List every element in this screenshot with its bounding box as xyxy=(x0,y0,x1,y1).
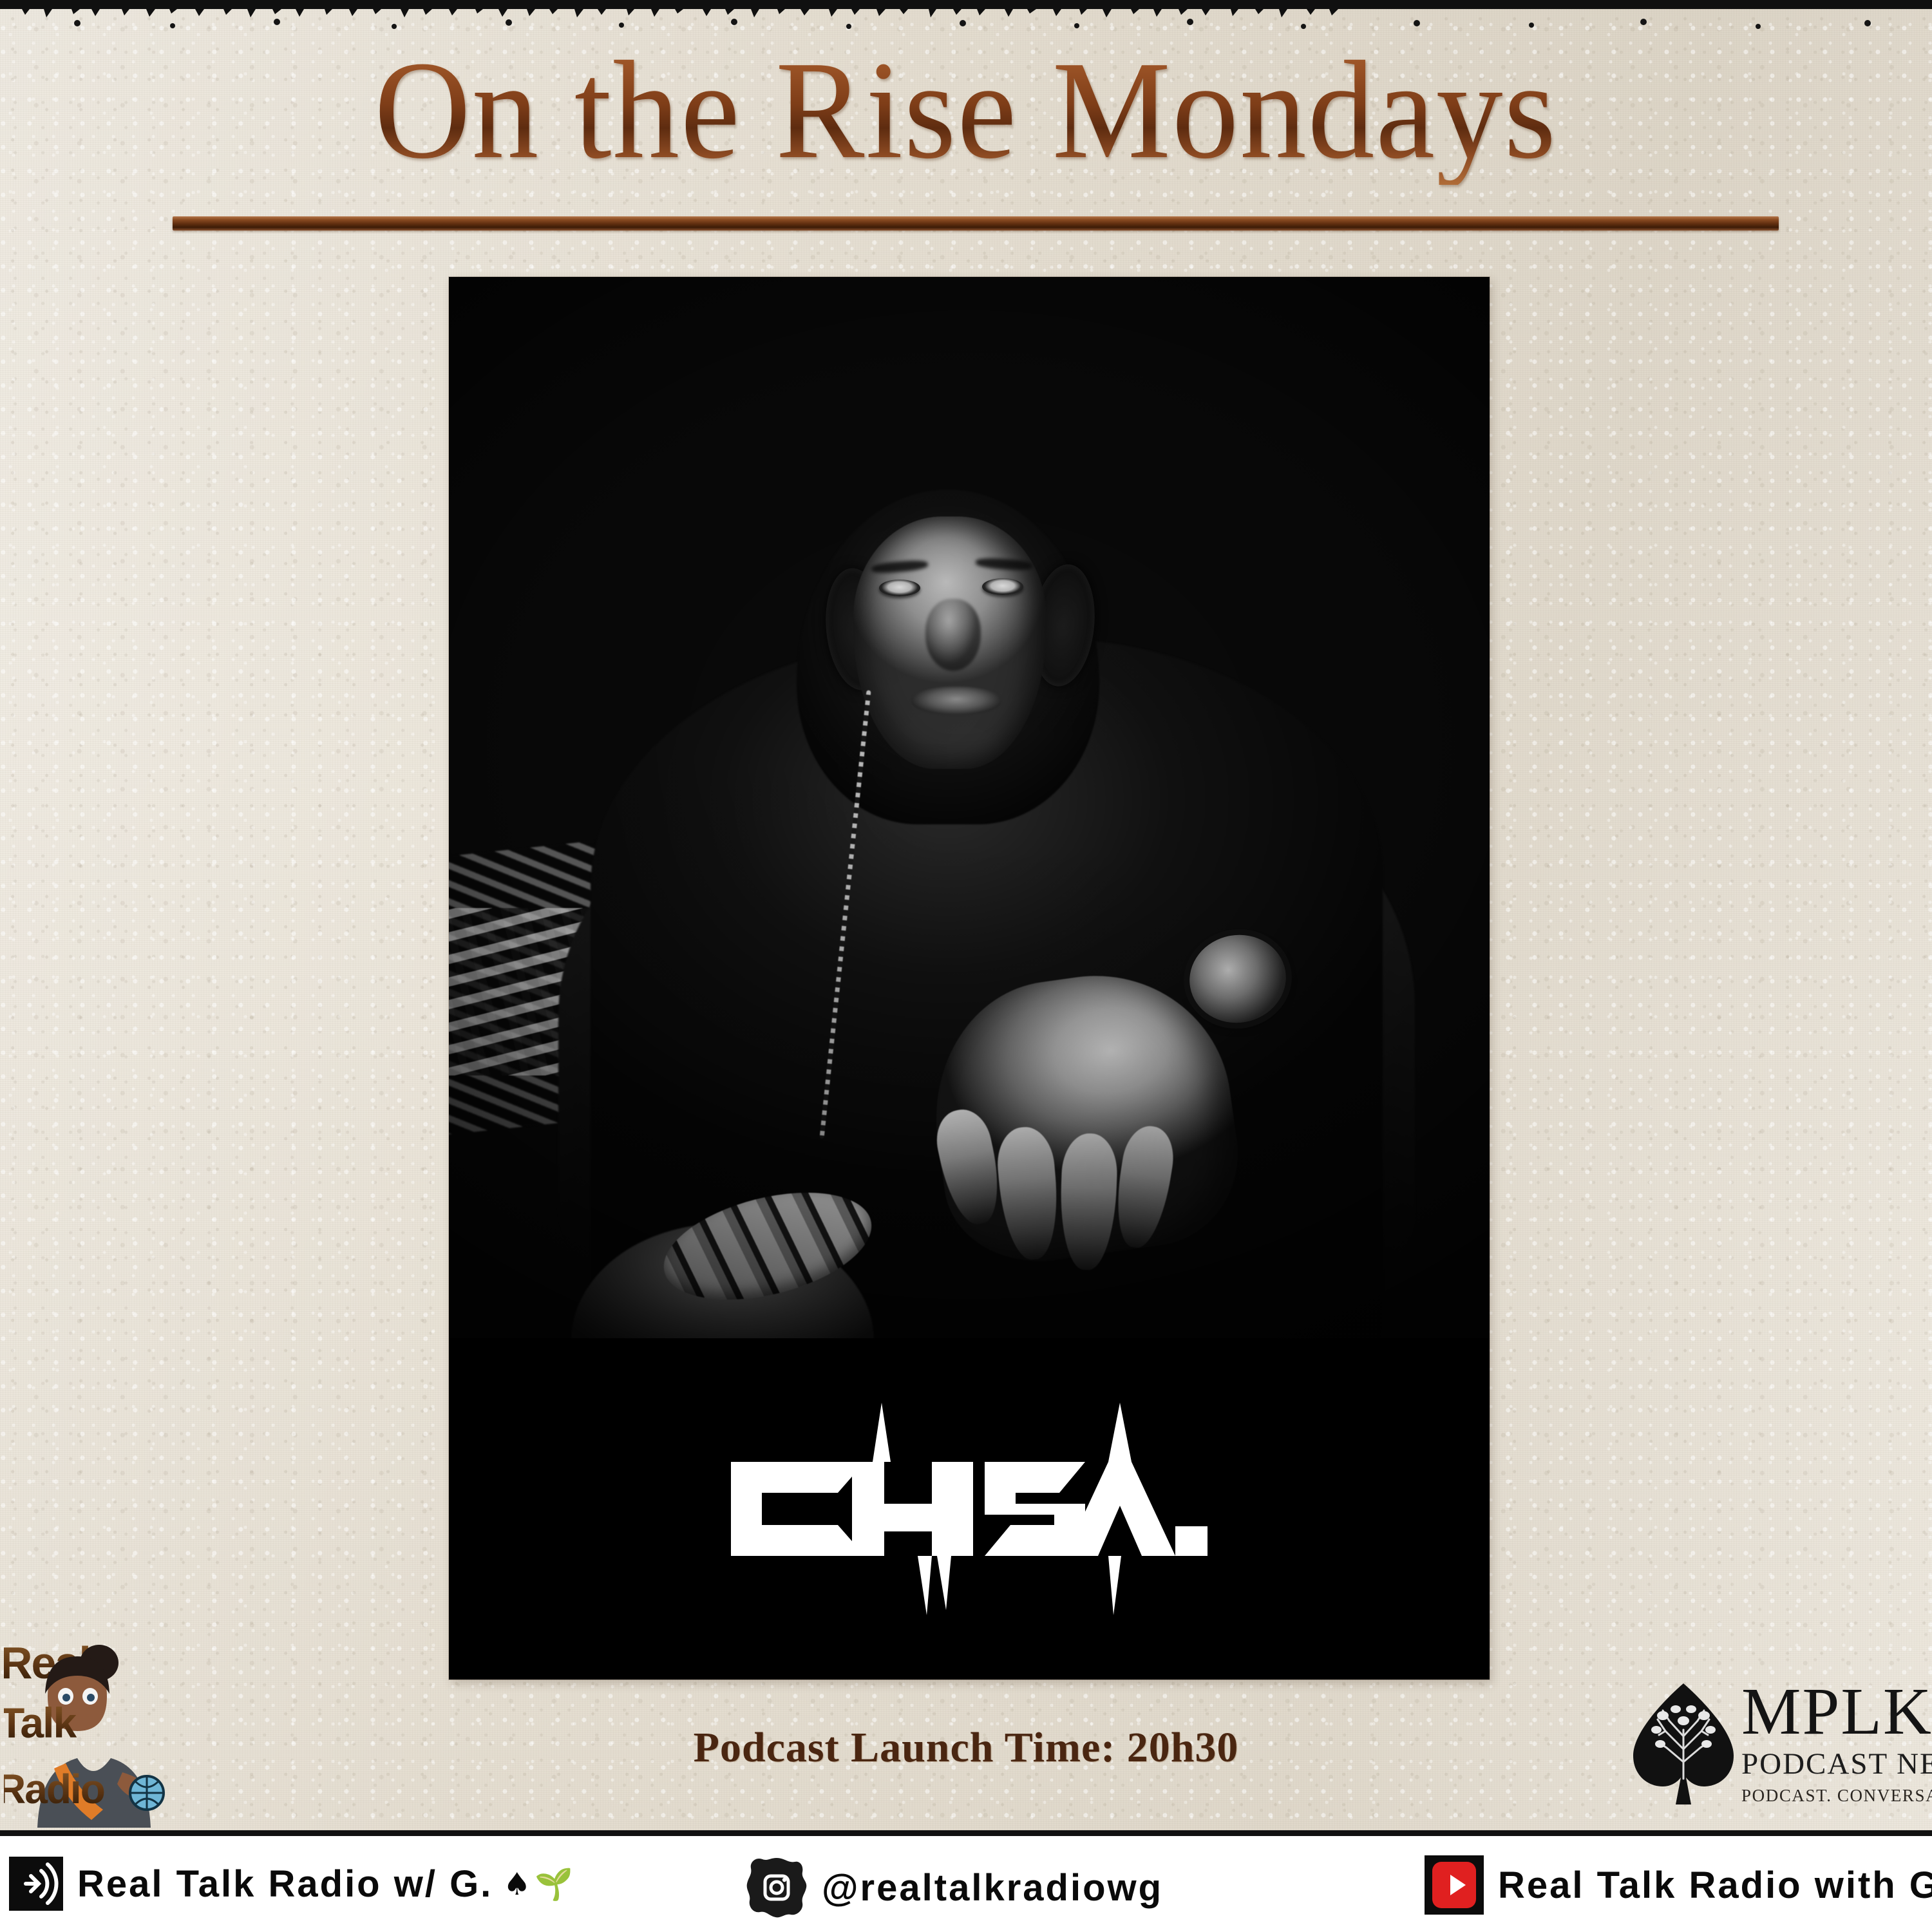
social-footer-bar: Real Talk Radio w/ G. ♠🌱 @realtalkradiow… xyxy=(0,1830,1932,1932)
network-name: MPLKA xyxy=(1741,1678,1932,1745)
artist-logo-panel xyxy=(449,1338,1490,1680)
footer-podcast-label: Real Talk Radio w/ G. xyxy=(77,1862,493,1906)
chisa-wordmark-logo xyxy=(724,1403,1214,1615)
real-talk-radio-logo: Real Talk Radio xyxy=(4,1634,184,1828)
footer-instagram-handle: @realtalkradiowg xyxy=(822,1866,1163,1909)
footer-item-instagram[interactable]: @realtalkradiowg xyxy=(746,1857,1163,1918)
podcast-icon[interactable] xyxy=(9,1857,63,1911)
artist-photograph xyxy=(449,277,1490,1338)
mplka-network-logo: MPLKA PODCAST NETWORK PODCAST. CONVERSAT… xyxy=(1628,1674,1932,1839)
svg-text:Radio: Radio xyxy=(4,1766,104,1812)
footer-youtube-channel: Real Talk Radio with G. xyxy=(1498,1864,1932,1907)
artist-photo-card xyxy=(449,277,1490,1680)
torn-edge-top xyxy=(0,0,1932,30)
footer-podcast-emoji: ♠🌱 xyxy=(503,1866,577,1902)
network-tagline: PODCAST. CONVERSATION. STORIES. xyxy=(1741,1786,1932,1806)
footer-item-youtube[interactable]: Real Talk Radio with G. xyxy=(1425,1855,1932,1915)
title-underline-rule xyxy=(173,216,1779,231)
poster-title-wrap: On the Rise Mondays xyxy=(0,36,1932,185)
podcast-promo-poster: On the Rise Mondays xyxy=(0,0,1932,1932)
network-subtitle: PODCAST NETWORK xyxy=(1741,1748,1932,1781)
spade-tree-icon xyxy=(1628,1681,1739,1807)
instagram-icon[interactable] xyxy=(746,1857,808,1918)
footer-item-podcast[interactable]: Real Talk Radio w/ G. ♠🌱 xyxy=(9,1857,577,1911)
page-title: On the Rise Mondays xyxy=(375,36,1558,185)
svg-text:Talk: Talk xyxy=(4,1699,77,1747)
photo-vignette xyxy=(449,277,1490,1338)
launch-time-text: Podcast Launch Time: 20h30 xyxy=(694,1724,1239,1771)
youtube-icon[interactable] xyxy=(1425,1855,1484,1915)
